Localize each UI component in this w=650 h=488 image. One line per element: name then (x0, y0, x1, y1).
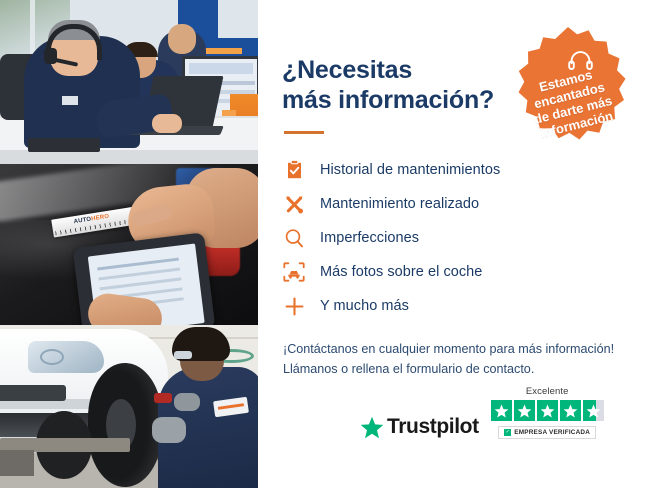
trustpilot-rating-label: Excelente (526, 386, 569, 397)
photo-column: AUTOHERO (0, 0, 258, 488)
feature-label: Historial de mantenimientos (320, 162, 500, 178)
wrench-screwdriver-icon (282, 192, 306, 216)
list-item: Historial de mantenimientos (282, 153, 624, 187)
feature-list: Historial de mantenimientos Mantenimient… (282, 153, 624, 323)
star-4 (560, 400, 581, 421)
trustpilot-star-icon (360, 416, 384, 439)
trustpilot-logo[interactable]: Trustpilot (360, 415, 479, 439)
document-check-icon (282, 158, 306, 182)
headline-line-1: ¿Necesitas (282, 56, 412, 84)
star-2 (514, 400, 535, 421)
list-item: Y mucho más (282, 289, 624, 323)
list-item: Imperfecciones (282, 221, 624, 255)
title-divider (284, 131, 324, 134)
feature-label: Y mucho más (320, 298, 409, 314)
verified-label: EMPRESA VERIFICADA (514, 429, 590, 436)
star-5-partial (583, 400, 604, 421)
car-scan-icon (282, 260, 306, 284)
list-item: Mantenimiento realizado (282, 187, 624, 221)
star-1 (491, 400, 512, 421)
trustpilot-name: Trustpilot (387, 415, 479, 439)
contact-text: ¡Contáctanos en cualquier momento para m… (283, 339, 624, 380)
status-badge: Estamos encantados de darte más informac… (502, 24, 634, 156)
plus-icon (282, 294, 306, 318)
headline-line-2: más información? (282, 86, 494, 114)
magnifier-icon (282, 226, 306, 250)
call-center-agents-photo (0, 0, 258, 164)
feature-label: Mantenimiento realizado (320, 196, 479, 212)
contact-line-2: Llámanos o rellena el formulario de cont… (283, 362, 534, 376)
mechanic-wheel-photo (0, 325, 258, 488)
contact-line-1: ¡Contáctanos en cualquier momento para m… (283, 342, 614, 356)
information-banner: AUTOHERO (0, 0, 650, 488)
inspection-ruler-photo: AUTOHERO (0, 164, 258, 325)
feature-label: Más fotos sobre el coche (320, 264, 482, 280)
list-item: Más fotos sobre el coche (282, 255, 624, 289)
trustpilot-widget[interactable]: Trustpilot Excelente (360, 386, 612, 439)
feature-label: Imperfecciones (320, 230, 419, 246)
check-icon: ✓ (504, 429, 511, 436)
trustpilot-stars (491, 400, 604, 421)
star-3 (537, 400, 558, 421)
verified-business-badge: ✓ EMPRESA VERIFICADA (498, 426, 596, 439)
